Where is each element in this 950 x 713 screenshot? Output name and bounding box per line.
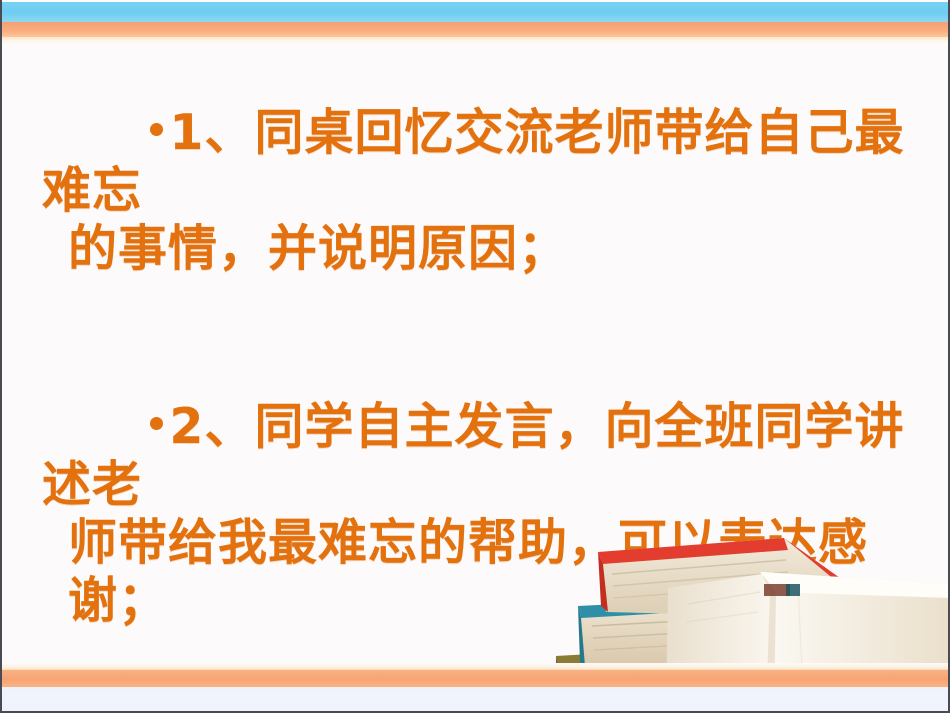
slide-canvas: 1、同桌回忆交流老师带给自己最难忘的事情，并说明原因； 2、同学自主发言，向全班… bbox=[0, 0, 950, 713]
list-item-text-line3: 谢； bbox=[42, 572, 168, 629]
bullet-dot-icon bbox=[150, 417, 163, 430]
list-item: 1、同桌回忆交流老师带给自己最难忘的事情，并说明原因； bbox=[2, 46, 950, 336]
bottom-band-fade bbox=[2, 663, 948, 670]
bottom-decoration-bands bbox=[2, 663, 948, 711]
top-orange-band bbox=[2, 22, 948, 37]
list-item-number: 1、 bbox=[169, 104, 254, 161]
list-item: 2、同学自主发言，向全班同学讲述老师带给我最难忘的帮助，可以表达感谢； bbox=[2, 340, 950, 688]
top-blue-band bbox=[2, 2, 948, 22]
top-decoration-bands bbox=[2, 0, 948, 44]
list-item-number: 2、 bbox=[169, 398, 254, 455]
top-band-fade bbox=[2, 37, 948, 44]
slide-body: 1、同桌回忆交流老师带给自己最难忘的事情，并说明原因； 2、同学自主发言，向全班… bbox=[2, 46, 950, 713]
bullet-dot-icon bbox=[150, 123, 163, 136]
list-item-text-line2: 师带给我最难忘的帮助，可以表达感 bbox=[42, 514, 868, 571]
bottom-orange-band bbox=[2, 670, 948, 687]
list-item-text-line2: 的事情，并说明原因； bbox=[42, 220, 568, 277]
bottom-blue-band bbox=[2, 687, 948, 711]
